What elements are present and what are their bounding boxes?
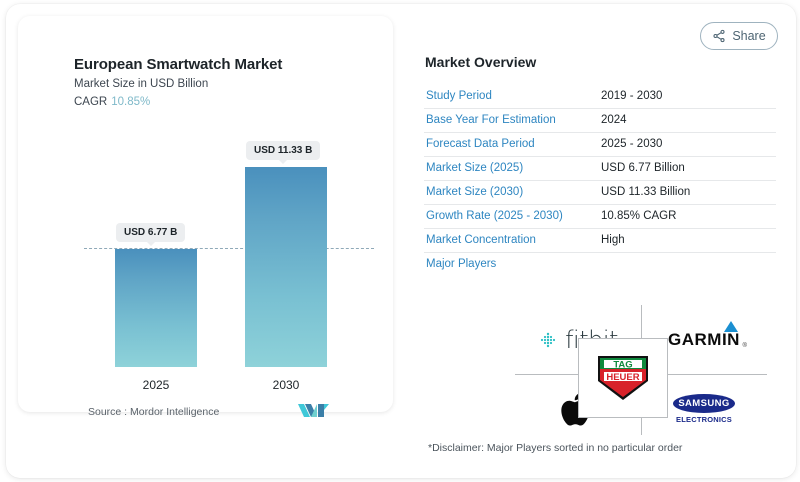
bar-2025[interactable]: [115, 249, 197, 367]
garmin-logo: GARMIN ®: [668, 330, 740, 350]
chart-card: European Smartwatch Market Market Size i…: [18, 16, 393, 412]
row-value: USD 6.77 Billion: [599, 156, 776, 180]
table-row: Growth Rate (2025 - 2030) 10.85% CAGR: [424, 204, 776, 228]
row-value: USD 11.33 Billion: [599, 180, 776, 204]
svg-text:HEUER: HEUER: [606, 372, 639, 383]
bar-value-label-2030: USD 11.33 B: [246, 141, 320, 160]
screenshot-root: European Smartwatch Market Market Size i…: [0, 0, 800, 482]
row-key: Study Period: [424, 84, 599, 108]
table-row: Forecast Data Period 2025 - 2030: [424, 132, 776, 156]
major-players-row: Major Players: [424, 252, 776, 276]
fitbit-dots-icon: [538, 329, 560, 351]
logo-cell-tagheuer[interactable]: TAG HEUER: [578, 338, 668, 418]
share-icon: [712, 29, 726, 43]
share-button-label: Share: [732, 29, 765, 43]
major-players-logo-grid: fitbit GARMIN ® SAMSUNG ELEC: [515, 305, 767, 435]
samsung-logo: SAMSUNG ELECTRONICS: [673, 394, 735, 424]
bar-2030[interactable]: [245, 167, 327, 367]
row-key: Growth Rate (2025 - 2030): [424, 204, 599, 228]
table-row: Study Period 2019 - 2030: [424, 84, 776, 108]
row-key: Base Year For Estimation: [424, 108, 599, 132]
garmin-trademark-mark: ®: [743, 343, 747, 349]
row-key: Market Concentration: [424, 228, 599, 252]
panel-title: Market Overview: [425, 54, 536, 70]
x-tick-2030: 2030: [245, 378, 327, 392]
row-value: 10.85% CAGR: [599, 204, 776, 228]
x-tick-2025: 2025: [115, 378, 197, 392]
svg-text:TAG: TAG: [613, 360, 632, 371]
table-row: Market Size (2030) USD 11.33 Billion: [424, 180, 776, 204]
table-row: Base Year For Estimation 2024: [424, 108, 776, 132]
mordor-intelligence-logo-icon: [298, 402, 330, 419]
row-value: 2024: [599, 108, 776, 132]
garmin-triangle-icon: [724, 321, 738, 332]
row-value: High: [599, 228, 776, 252]
disclaimer-text: *Disclaimer: Major Players sorted in no …: [428, 442, 682, 454]
row-key: Market Size (2030): [424, 180, 599, 204]
major-players-label: Major Players: [424, 252, 776, 276]
table-row: Market Size (2025) USD 6.77 Billion: [424, 156, 776, 180]
samsung-subwordmark: ELECTRONICS: [673, 415, 735, 424]
source-label: Source : Mordor Intelligence: [88, 406, 219, 418]
bar-chart-plot: USD 6.77 B USD 11.33 B 2025 2030: [18, 16, 393, 412]
tag-heuer-logo-icon: TAG HEUER: [595, 353, 651, 403]
row-value: 2019 - 2030: [599, 84, 776, 108]
row-key: Forecast Data Period: [424, 132, 599, 156]
samsung-wordmark: SAMSUNG: [673, 394, 735, 413]
bar-value-label-2025: USD 6.77 B: [116, 223, 185, 242]
market-overview-table: Study Period 2019 - 2030 Base Year For E…: [424, 84, 776, 276]
garmin-wordmark: GARMIN: [668, 330, 740, 349]
table-row: Market Concentration High: [424, 228, 776, 252]
row-value: 2025 - 2030: [599, 132, 776, 156]
share-button[interactable]: Share: [700, 22, 778, 50]
market-overview-panel: Share Market Overview Study Period 2019 …: [414, 16, 786, 466]
row-key: Market Size (2025): [424, 156, 599, 180]
